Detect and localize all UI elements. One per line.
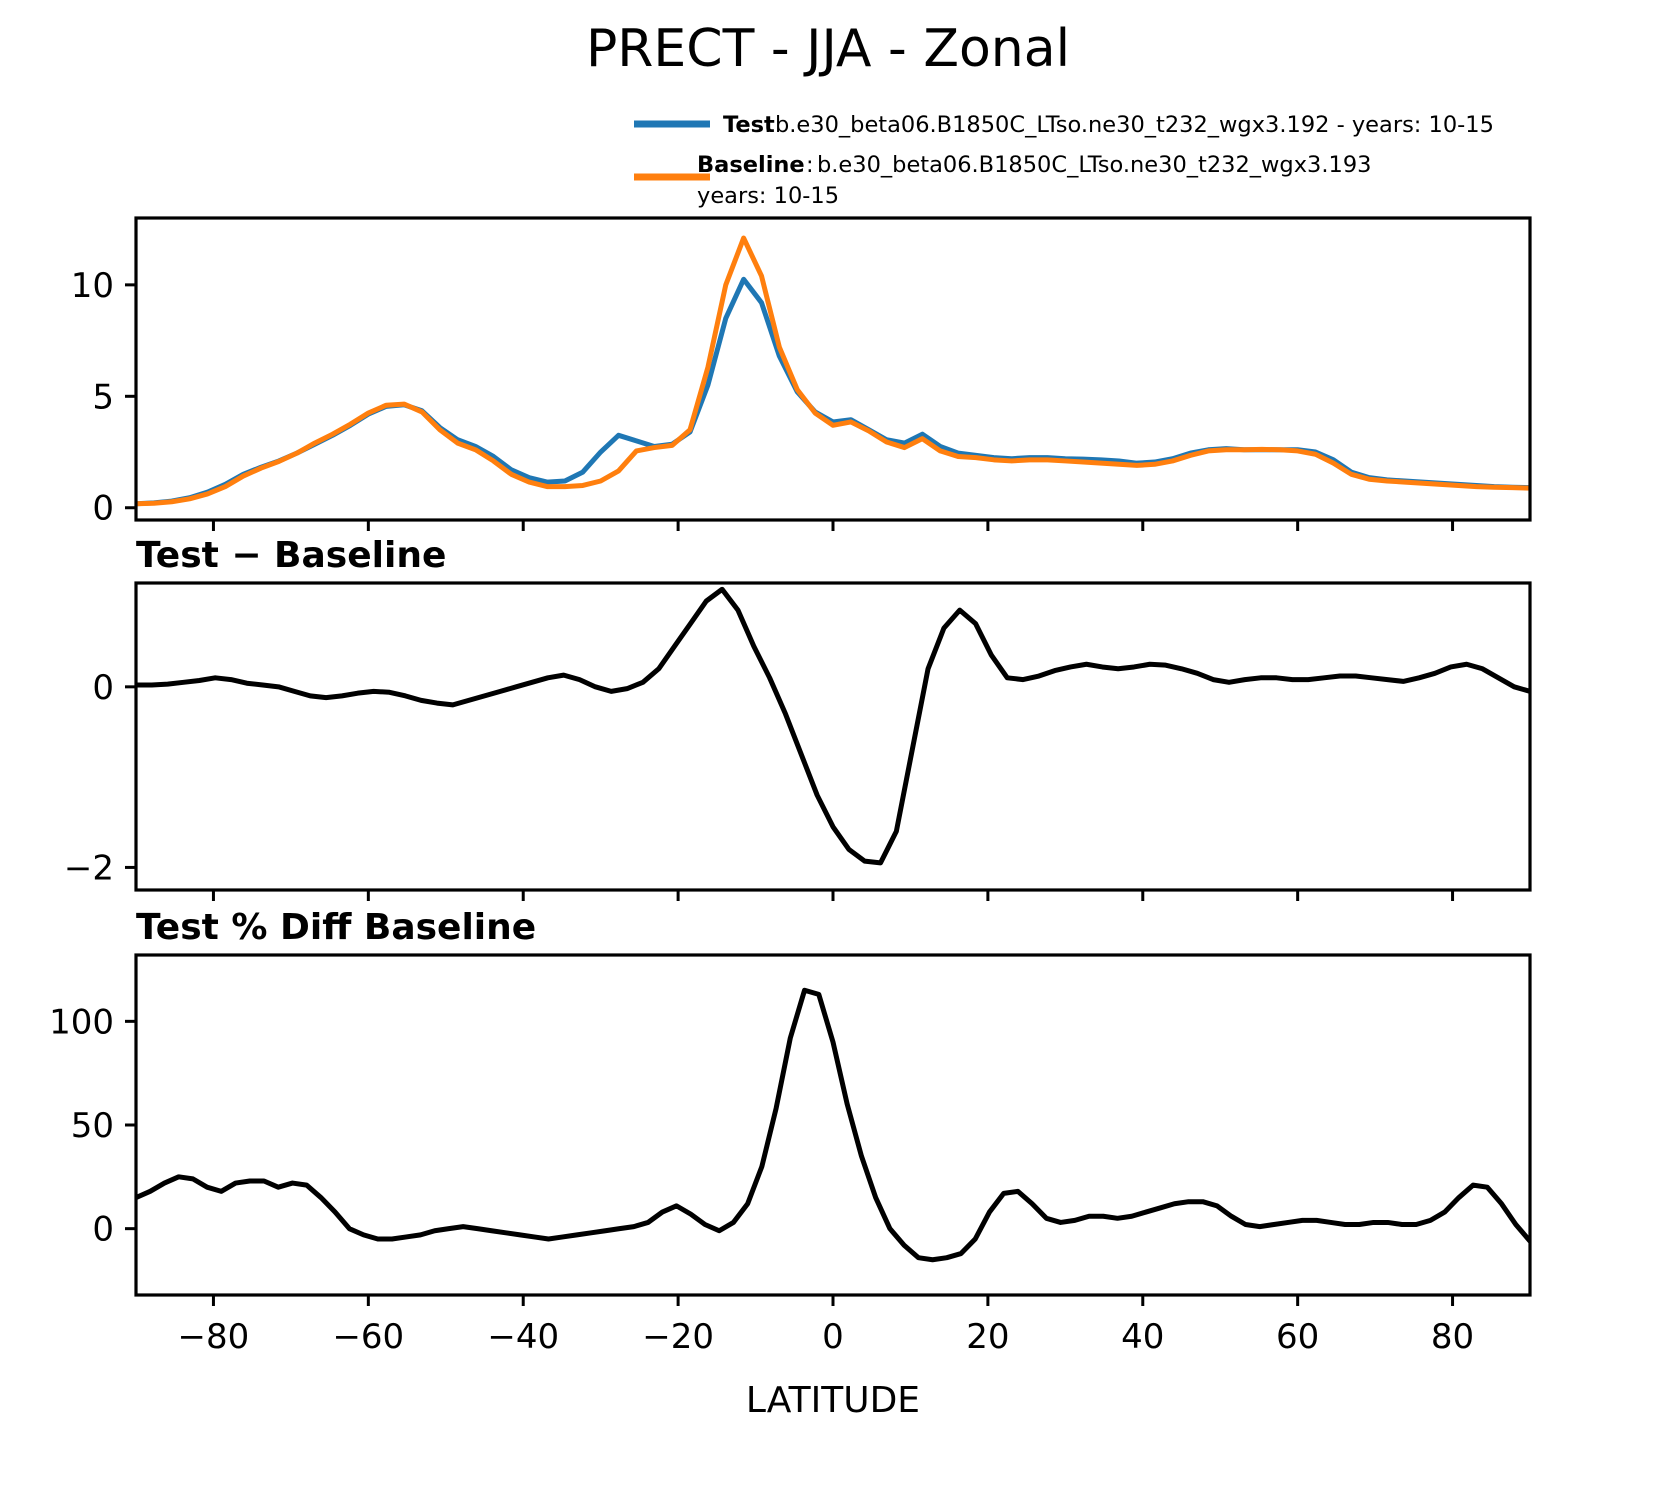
x-tick-label: −60 xyxy=(332,1317,404,1357)
y-tick-label: −2 xyxy=(64,848,114,888)
legend-description-test: b.e30_beta06.B1850C_LTso.ne30_t232_wgx3.… xyxy=(775,112,1494,138)
y-tick-label: 0 xyxy=(92,489,114,529)
legend-description-baseline: b.e30_beta06.B1850C_LTso.ne30_t232_wgx3.… xyxy=(817,152,1371,178)
legend-name-baseline: Baseline xyxy=(697,152,805,178)
legend-separator-test: : xyxy=(764,112,772,138)
figure-background xyxy=(0,0,1656,1496)
panel-label-difference: Test − Baseline xyxy=(136,535,446,576)
y-tick-label: 10 xyxy=(71,266,114,306)
y-tick-label: 50 xyxy=(71,1106,114,1146)
figure-title: PRECT - JJA - Zonal xyxy=(586,19,1070,79)
x-tick-label: −80 xyxy=(178,1317,250,1357)
figure-page: PRECT - JJA - Zonal Test : b.e30_beta06.… xyxy=(0,0,1656,1496)
legend-separator-baseline: : xyxy=(806,152,814,178)
panel-label-percent-difference: Test % Diff Baseline xyxy=(136,907,536,948)
y-tick-label: 100 xyxy=(49,1002,114,1042)
y-tick-label: 0 xyxy=(92,668,114,708)
zonal-mean-figure: PRECT - JJA - Zonal Test : b.e30_beta06.… xyxy=(0,0,1656,1496)
y-tick-label: 5 xyxy=(92,377,114,417)
x-tick-label: −20 xyxy=(642,1317,714,1357)
x-tick-label: −40 xyxy=(487,1317,559,1357)
x-tick-label: 40 xyxy=(1121,1317,1164,1357)
x-axis-label: LATITUDE xyxy=(746,1380,920,1421)
x-tick-label: 20 xyxy=(966,1317,1009,1357)
x-tick-label: 80 xyxy=(1431,1317,1474,1357)
x-tick-label: 60 xyxy=(1276,1317,1319,1357)
legend-description-baseline-line2: years: 10-15 xyxy=(697,183,839,209)
x-tick-label: 0 xyxy=(822,1317,844,1357)
y-tick-label: 0 xyxy=(92,1210,114,1250)
